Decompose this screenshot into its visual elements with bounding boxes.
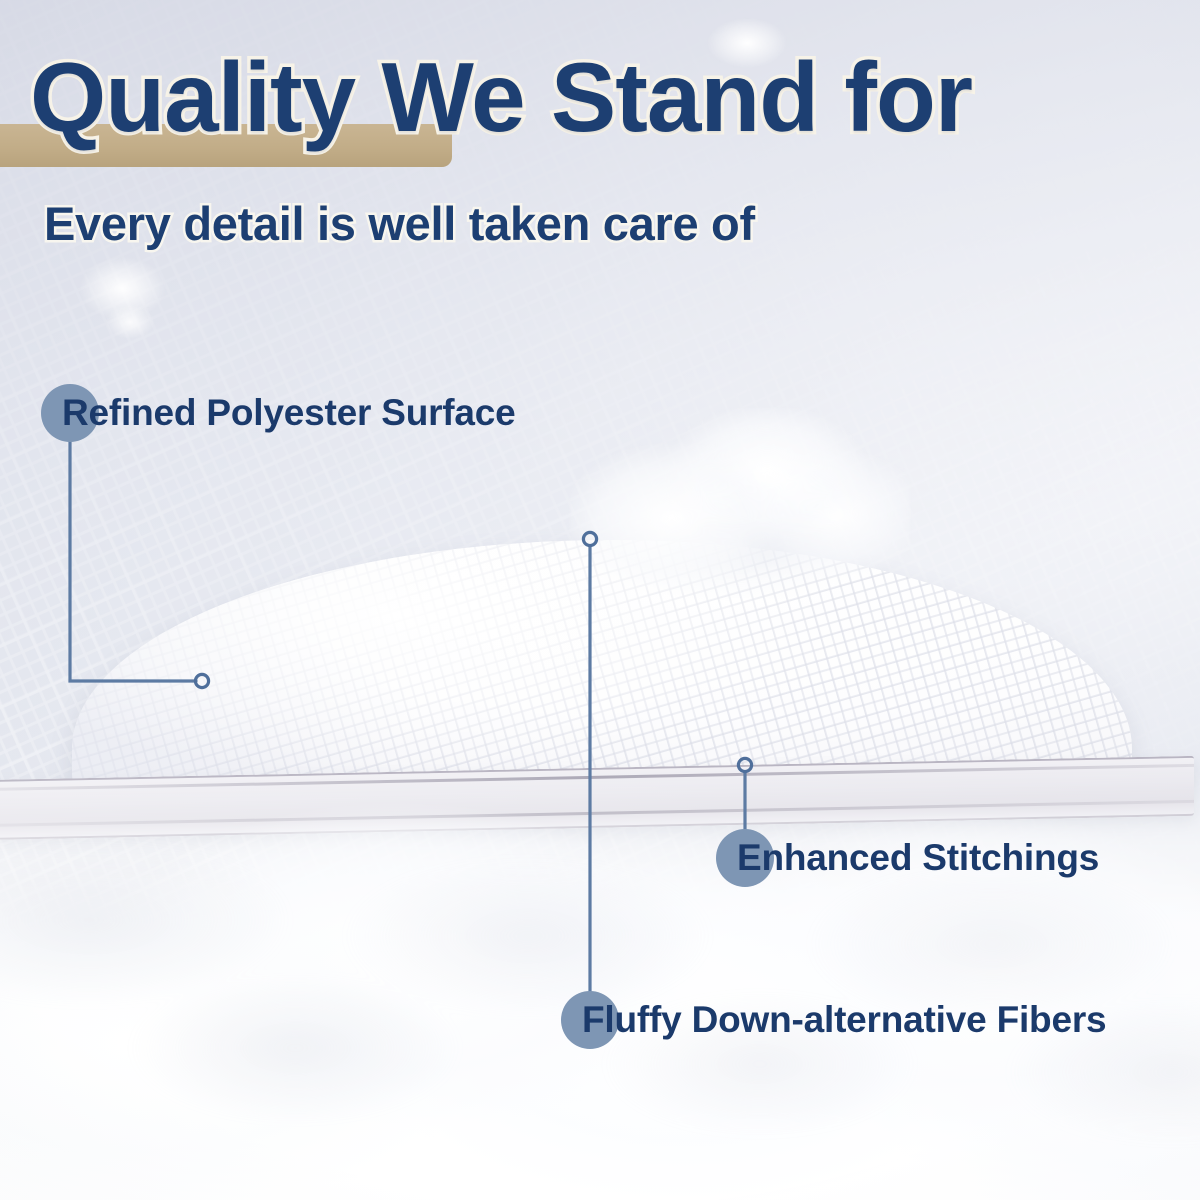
callout-label-enhanced-stitchings: Enhanced Stitchings xyxy=(737,837,1099,879)
fiber-cloud-top xyxy=(570,408,910,598)
infographic-canvas: Quality We Stand for Every detail is wel… xyxy=(0,0,1200,1200)
callout-label-fluffy-down-alternative-fibers: Fluffy Down-alternative Fibers xyxy=(582,999,1106,1041)
headline-highlight-word: Quality xyxy=(30,42,355,152)
callout-label-refined-polyester-surface: Refined Polyester Surface xyxy=(62,392,516,434)
page-title: Quality We Stand for xyxy=(30,48,972,148)
page-subtitle: Every detail is well taken care of xyxy=(44,196,755,251)
headline-rest: We Stand for xyxy=(355,42,972,152)
